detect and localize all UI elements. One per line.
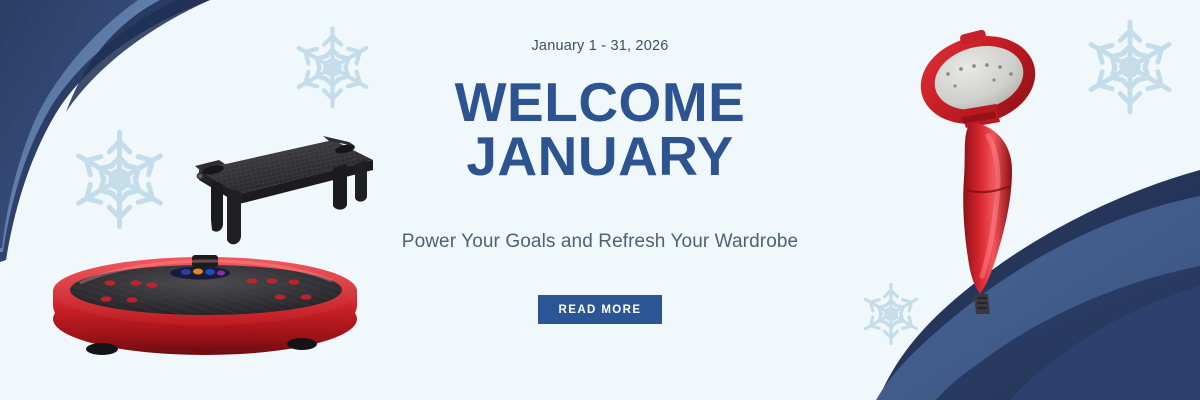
- snowflake-left-large-icon: [62, 122, 177, 237]
- banner-subtitle: Power Your Goals and Refresh Your Wardro…: [330, 231, 870, 253]
- banner-text-block: January 1 - 31, 2026 WELCOME JANUARY Pow…: [330, 28, 870, 368]
- snowflake-top-right-icon: [1075, 12, 1185, 122]
- read-more-button[interactable]: READ MORE: [538, 295, 663, 324]
- promotional-banner: January 1 - 31, 2026 WELCOME JANUARY Pow…: [0, 0, 1200, 400]
- product-image-vibration-plate: [40, 243, 370, 363]
- page-title: WELCOME JANUARY: [330, 76, 870, 184]
- headline-line-1: WELCOME: [455, 71, 746, 133]
- product-image-garment-steamer: [900, 18, 1055, 318]
- headline-line-2: JANUARY: [330, 130, 870, 184]
- date-range-label: January 1 - 31, 2026: [330, 38, 870, 54]
